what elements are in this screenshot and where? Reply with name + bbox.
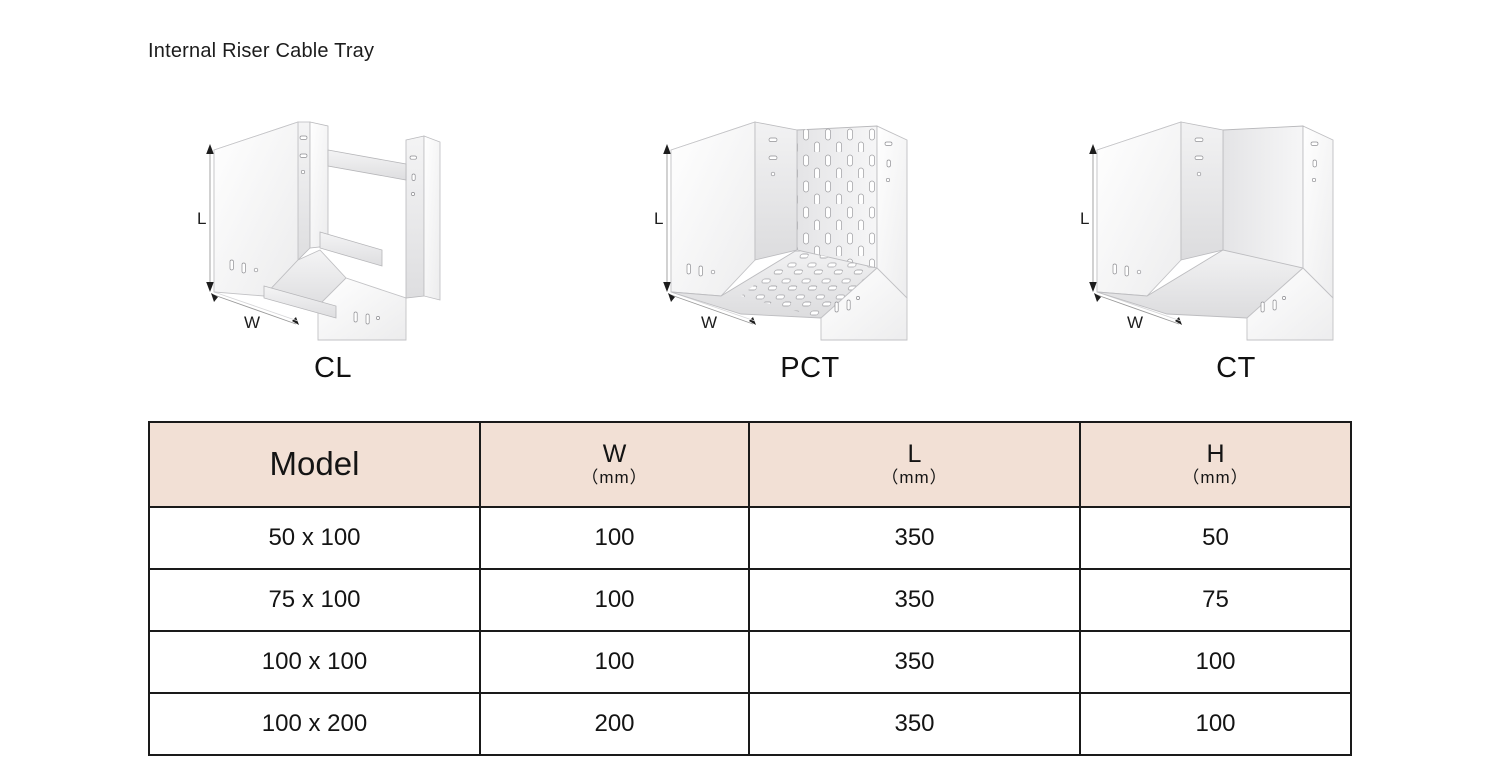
- column-header-model-label: Model: [270, 445, 360, 482]
- dimension-label-length: L: [654, 209, 663, 228]
- table-row: 75 x 100 100 350 75: [149, 569, 1351, 631]
- dimension-arrow-down: [663, 282, 671, 292]
- dimension-arrow-up: [1089, 144, 1097, 154]
- column-header-length-unit: （mm）: [750, 468, 1079, 488]
- dimension-label-width: W: [701, 313, 717, 332]
- dimension-arrow-up: [206, 144, 214, 154]
- cell-model: 75 x 100: [149, 569, 480, 631]
- page-title: Internal Riser Cable Tray: [148, 40, 374, 63]
- column-header-height: H （mm）: [1080, 422, 1351, 507]
- table-row: 100 x 200 200 350 100: [149, 693, 1351, 755]
- column-header-width-label: W: [481, 441, 748, 469]
- column-header-height-unit: （mm）: [1081, 468, 1350, 488]
- dimension-arrow-down: [206, 282, 214, 292]
- cell-height: 75: [1080, 569, 1351, 631]
- column-header-model: Model: [149, 422, 480, 507]
- cell-model: 100 x 200: [149, 693, 480, 755]
- cell-height: 100: [1080, 631, 1351, 693]
- cell-length: 350: [749, 569, 1080, 631]
- product-figure-ct: L W: [1071, 100, 1401, 400]
- dimension-label-length: L: [1080, 209, 1089, 228]
- cell-width: 200: [480, 693, 749, 755]
- cell-height: 50: [1080, 507, 1351, 569]
- cell-height: 100: [1080, 693, 1351, 755]
- dimension-label-width: W: [1127, 313, 1143, 332]
- dimension-arrow-left: [1094, 293, 1101, 302]
- cell-model: 50 x 100: [149, 507, 480, 569]
- dimension-label-length: L: [197, 209, 206, 228]
- cable-ladder-illustration: L W: [168, 100, 498, 350]
- table-header-row: Model W （mm） L （mm） H （mm）: [149, 422, 1351, 507]
- product-figure-cl: L W: [168, 100, 498, 400]
- figure-caption-cl: CL: [168, 352, 498, 385]
- column-header-width-unit: （mm）: [481, 468, 748, 488]
- diagram-gallery: L W: [0, 100, 1500, 400]
- product-figure-pct: L W: [645, 100, 975, 400]
- column-header-height-label: H: [1081, 441, 1350, 469]
- ladder-rung: [328, 150, 406, 180]
- cell-width: 100: [480, 569, 749, 631]
- cell-length: 350: [749, 631, 1080, 693]
- figure-caption-pct: PCT: [645, 352, 975, 385]
- cell-length: 350: [749, 693, 1080, 755]
- dimension-label-width: W: [244, 313, 260, 332]
- solid-cable-tray-illustration: L W: [1071, 100, 1401, 350]
- cell-width: 100: [480, 507, 749, 569]
- column-header-length: L （mm）: [749, 422, 1080, 507]
- column-header-length-label: L: [750, 441, 1079, 469]
- dimension-arrow-down: [1089, 282, 1097, 292]
- specification-table: Model W （mm） L （mm） H （mm） 50 x 100 100 …: [148, 421, 1352, 756]
- dimension-arrow-up: [663, 144, 671, 154]
- dimension-arrow-left: [668, 293, 675, 302]
- figure-caption-ct: CT: [1071, 352, 1401, 385]
- cell-model: 100 x 100: [149, 631, 480, 693]
- table-row: 50 x 100 100 350 50: [149, 507, 1351, 569]
- column-header-width: W （mm）: [480, 422, 749, 507]
- cell-width: 100: [480, 631, 749, 693]
- dimension-arrow-left: [211, 293, 218, 302]
- cell-length: 350: [749, 507, 1080, 569]
- table-row: 100 x 100 100 350 100: [149, 631, 1351, 693]
- perforated-cable-tray-illustration: L W: [645, 100, 975, 350]
